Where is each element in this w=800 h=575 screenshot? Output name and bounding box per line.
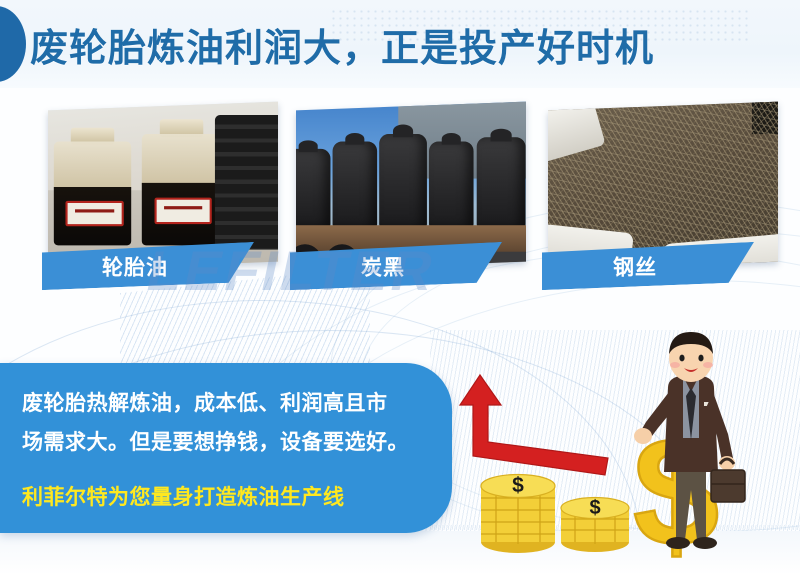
message-panel: 废轮胎热解炼油，成本低、利润高且市 场需求大。但是要想挣钱，设备要选好。 利菲尔… — [0, 363, 452, 533]
growth-arrow-icon — [460, 375, 608, 475]
svg-text:$: $ — [512, 474, 524, 497]
profit-illustration: $ $ $ — [440, 330, 800, 575]
message-line-3-highlight: 利菲尔特为您量身打造炼油生产线 — [22, 481, 345, 511]
page-title: 废轮胎炼油利润大，正是投产好时机 — [30, 17, 654, 72]
card-label-tire-oil: 轮胎油 — [42, 246, 228, 286]
coin-stack-left: $ — [481, 474, 555, 553]
poster-canvas: 废轮胎炼油利润大，正是投产好时机 轮胎油 — [0, 0, 800, 575]
message-line-1: 废轮胎热解炼油，成本低、利润高且市 — [22, 387, 388, 417]
product-card-steel-wire[interactable]: 钢丝 — [548, 106, 778, 286]
message-line-2: 场需求大。但是要想挣钱，设备要选好。 — [22, 426, 409, 456]
product-card-row: 轮胎油 炭黑 — [0, 88, 800, 318]
product-card-carbon-black[interactable]: 炭黑 — [296, 106, 526, 286]
header-band: 废轮胎炼油利润大，正是投产好时机 — [0, 0, 800, 88]
svg-text:$: $ — [589, 497, 600, 519]
header-blob-decoration — [0, 6, 26, 82]
card-label-steel-wire: 钢丝 — [542, 246, 728, 286]
product-card-tire-oil[interactable]: 轮胎油 — [48, 106, 278, 286]
profit-illustration-svg: $ $ $ — [440, 330, 800, 575]
card-label-carbon-black: 炭黑 — [290, 246, 476, 286]
coin-stack-right: $ — [561, 497, 629, 552]
